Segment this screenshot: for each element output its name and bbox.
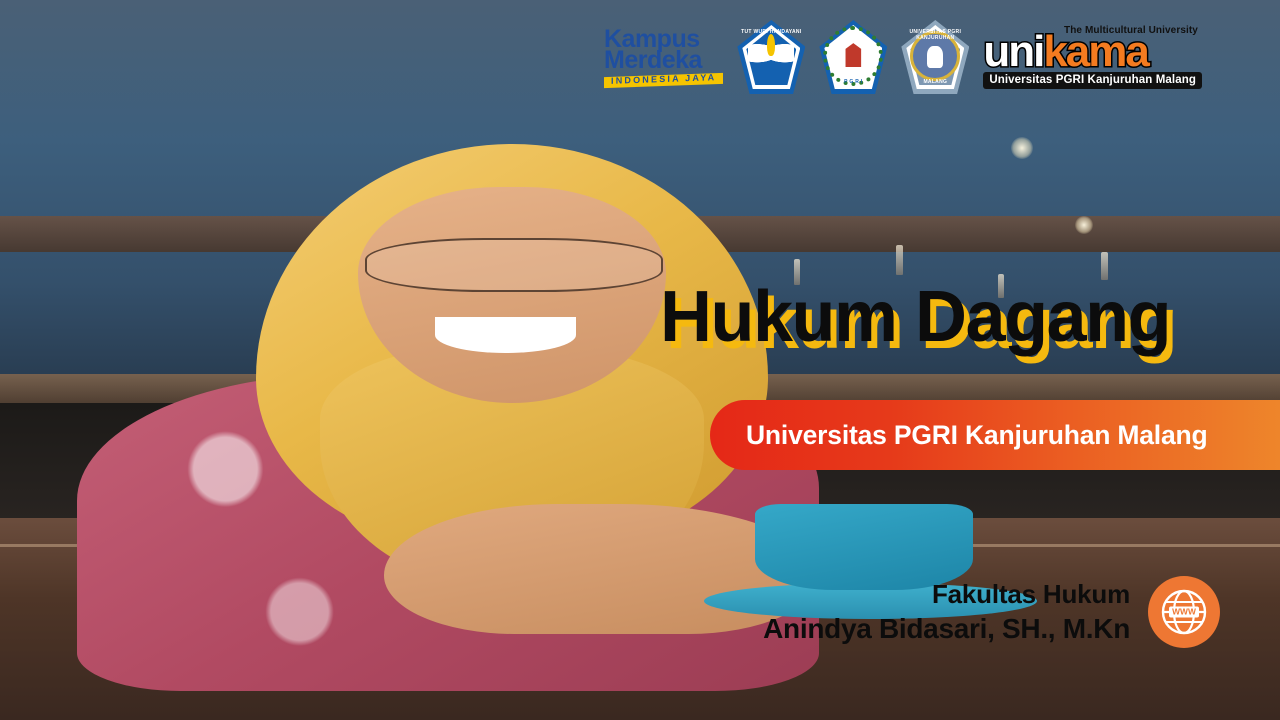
logo-strip: Kampus Merdeka INDONESIA JAYA TUT WURI H… [604,14,1202,100]
university-banner: Universitas PGRI Kanjuruhan Malang [710,400,1280,470]
crest-top-text: UNIVERSITAS PGRI KANJURUHAN [901,29,969,41]
footer-text-block: Fakultas Hukum Anindya Bidasari, SH., M.… [763,578,1130,646]
crest-bottom-text: MALANG [901,79,969,85]
www-icon-label: WWW [1172,607,1196,617]
pgri-crest-logo: P G R I [819,20,887,94]
kampus-merdeka-tagline: INDONESIA JAYA [604,73,723,88]
unikama-subtitle: Universitas PGRI Kanjuruhan Malang [983,72,1202,89]
presentation-slide: Kampus Merdeka INDONESIA JAYA TUT WURI H… [0,0,1280,720]
crest-figure-icon [927,46,943,68]
lecturer-name: Anindya Bidasari, SH., M.Kn [763,611,1130,646]
unikama-wordmark-logo: The Multicultural University unikama Uni… [983,25,1202,89]
page-title: Hukum Dagang [660,276,1170,358]
kampus-merdeka-line2: Merdeka [604,50,702,72]
crest-bottom-text: P G R I [819,79,887,85]
kampus-merdeka-logo: Kampus Merdeka INDONESIA JAYA [604,29,723,86]
tut-wuri-handayani-logo: TUT WURI HANDAYANI [737,20,805,94]
unikama-wordmark: unikama [983,34,1148,71]
unikama-word-part1: uni [983,27,1043,76]
university-banner-label: Universitas PGRI Kanjuruhan Malang [746,420,1207,451]
faculty-name: Fakultas Hukum [763,578,1130,611]
www-globe-icon: WWW [1148,576,1220,648]
footer: Fakultas Hukum Anindya Bidasari, SH., M.… [640,576,1220,648]
unikama-crest-logo: UNIVERSITAS PGRI KANJURUHAN MALANG [901,20,969,94]
unikama-word-part2: kama [1043,27,1148,76]
tut-wuri-wings-icon [748,42,794,70]
